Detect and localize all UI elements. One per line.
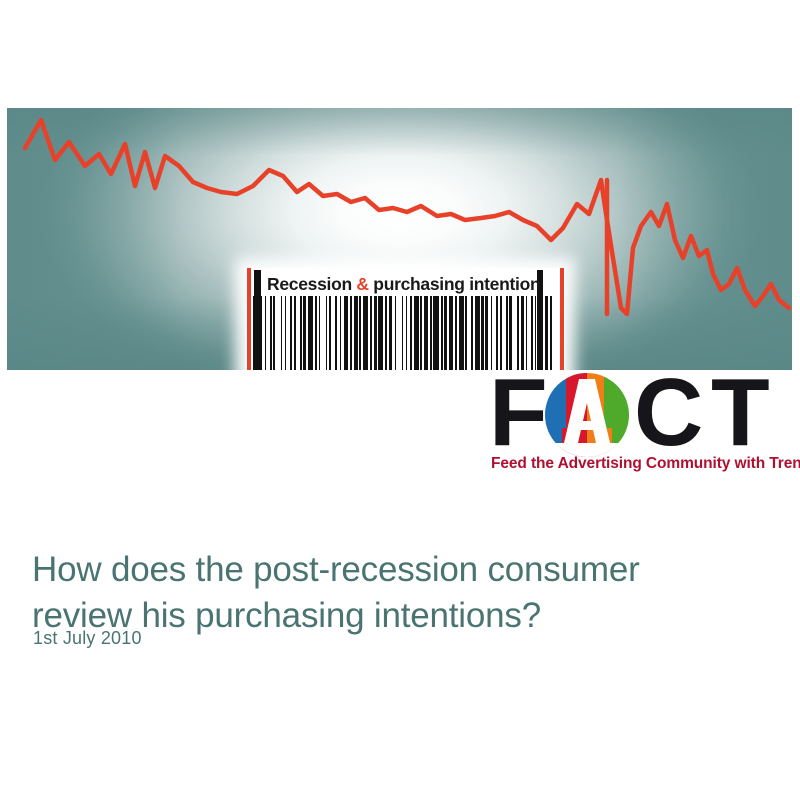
fact-logo: F C T Feed the Advertising Community wit… — [489, 371, 794, 481]
barcode-rail-right — [560, 268, 564, 370]
publication-date: 1st July 2010 — [33, 628, 142, 649]
logo-tagline: Feed the Advertising Community with Tren… — [491, 455, 800, 473]
barcode-title-suffix: purchasing intention — [369, 274, 541, 294]
barcode-rail-left — [247, 268, 251, 370]
barcode-title-prefix: Recession — [267, 274, 356, 294]
page-title: How does the post-recession consumer rev… — [32, 547, 762, 639]
logo-letter-f: F — [489, 365, 546, 461]
recession-banner: Recession & purchasing intention — [7, 108, 792, 370]
page-title-line-1: How does the post-recession consumer — [32, 547, 762, 593]
fact-wordmark: F C T — [489, 371, 794, 455]
barcode-title: Recession & purchasing intention — [267, 272, 547, 296]
barcode-graphic: Recession & purchasing intention — [245, 268, 565, 370]
logo-letter-t: T — [711, 365, 768, 461]
barcode-title-ampersand: & — [356, 274, 368, 294]
logo-letter-c: C — [634, 365, 701, 461]
a-letter-cutout-icon — [545, 373, 629, 457]
colorful-a-circle-icon — [545, 373, 629, 457]
barcode-gap — [552, 296, 557, 370]
